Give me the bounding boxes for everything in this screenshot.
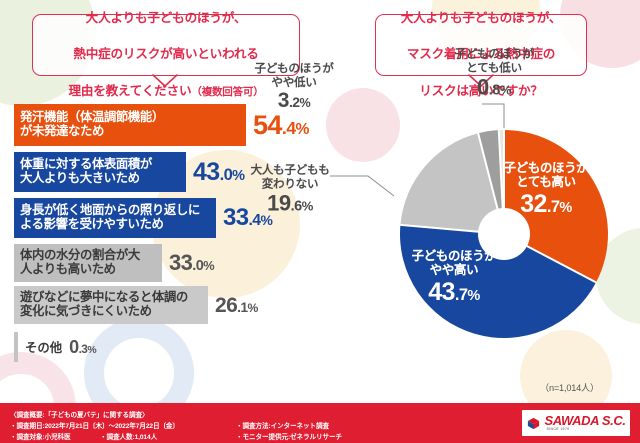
bar-value-int: 33 <box>223 204 249 231</box>
slice-value-int: 43 <box>428 278 455 306</box>
footer-survey-heading: 〈調査概要:「子どもの夏バテ」に関する調査〉 <box>10 409 148 419</box>
bar-value-label: 54.4% <box>253 112 309 139</box>
slice-value-int: 32 <box>520 190 547 218</box>
slice-value-dec: .6 <box>291 199 302 215</box>
bar-value-pct: % <box>203 258 214 273</box>
bar-value-pct: % <box>87 345 96 356</box>
sawada-sc-logo[interactable]: SAWADA S.C. SINCE 1970 <box>522 410 630 436</box>
slice-label-name: 大人も子どもも変わりない <box>250 163 329 190</box>
slice-label-value: 3.2% <box>254 89 333 114</box>
infographic-canvas: 大人よりも子どものほうが、 熱中症のリスクが高いといわれる 理由を教えてください… <box>0 0 640 443</box>
bar-fill: 体内の水分の割合が大 人よりも高いため <box>14 244 162 282</box>
left-bubble-tail-icon <box>152 74 178 88</box>
slice-value-dec: .8 <box>489 83 500 99</box>
slice-value-int: 19 <box>267 191 290 216</box>
slice-label-name: 子どものほうがやや高い <box>412 249 497 278</box>
bar-row-2: 体重に対する体表面積が 大人よりも大きいため43.0% <box>14 152 244 192</box>
bar-fill: 体重に対する体表面積が 大人よりも大きいため <box>14 152 186 192</box>
slice-value-dec: .7 <box>547 198 560 216</box>
leader-line <box>482 104 504 128</box>
bar-fill: 遊びなどに夢中になると体調の 変化に気づきにくいため <box>14 286 208 324</box>
bar-row-4: 体内の水分の割合が大 人よりも高いため33.0% <box>14 244 214 282</box>
slice-name: 子どものほうがとても高い <box>504 161 589 189</box>
slice-label-name: 子どものほうがやや低い <box>254 62 333 89</box>
left-q-line2: 熱中症のリスクが高いといわれる <box>73 47 258 61</box>
slice-somewhat-high-label: 子どものほうがやや高い43.7% <box>412 249 497 307</box>
bar-category-label: 身長が低く地面からの照り返しに よる影響を受けやすいため <box>20 204 200 232</box>
bar-value-label: 33.0% <box>169 252 214 274</box>
bar-value-int: 26 <box>215 294 237 317</box>
bar-row-5: 遊びなどに夢中になると体調の 変化に気づきにくいため26.1% <box>14 286 258 324</box>
slice-value-pct: % <box>300 96 311 110</box>
bar-value-dec: .0 <box>192 258 203 274</box>
slice-value-dec: .2 <box>289 94 300 110</box>
bar-value-dec: .1 <box>237 299 247 315</box>
slice-very-high-label: 子どものほうがとても高い32.7% <box>504 161 589 219</box>
other-row: その他0.3% <box>14 332 96 362</box>
mask-risk-pie-chart <box>398 128 610 340</box>
slice-name: 大人も子どもも変わりない <box>250 163 329 190</box>
bar-row-6: その他0.3% <box>14 332 96 362</box>
bar-category-label: 発汗機能（体温調節機能） が未発達なため <box>20 111 164 139</box>
slice-no-difference-label: 大人も子どもも変わりない19.6% <box>250 163 329 216</box>
bar-row-3: 身長が低く地面からの照り返しに よる影響を受けやすいため33.4% <box>14 198 272 238</box>
pink-circle-pie-left <box>326 88 400 162</box>
footer-survey-count: ・調査人数:1,014人 <box>100 431 157 441</box>
footer-survey-target: ・調査対象:小児科医 <box>10 431 71 441</box>
bar-value-int: 33 <box>169 250 192 275</box>
bar-category-label: その他 <box>25 338 62 356</box>
slice-label-value: 19.6% <box>250 191 329 217</box>
bar-category-label: 体内の水分の割合が大 人よりも高いため <box>20 249 140 277</box>
bar-fill <box>14 332 18 362</box>
logo-text-block: SAWADA S.C. SINCE 1970 <box>544 414 625 432</box>
slice-name: 子どものほうがやや低い <box>254 62 333 89</box>
slice-value-pct: % <box>500 83 511 98</box>
bar-value-label: 26.1% <box>215 295 258 316</box>
leader-line <box>330 176 394 196</box>
slice-name: 子どものほうがとても低い <box>454 47 533 74</box>
slice-label-value: 32.7% <box>504 190 589 219</box>
left-q-line1: 大人よりも子どものほうが、 <box>86 11 247 25</box>
bar-value-pct: % <box>296 121 309 138</box>
survey-footer: 〈調査概要:「子どもの夏バテ」に関する調査〉 ・調査期日:2022年7月21日〔… <box>0 403 640 443</box>
bar-fill: 発汗機能（体温調節機能） が未発達なため <box>14 104 246 146</box>
sawada-cube-icon <box>526 416 541 431</box>
slice-label-name: 子どものほうがとても高い <box>504 161 589 190</box>
slice-value-int: 0 <box>477 75 489 100</box>
slice-value-pct: % <box>302 199 313 214</box>
slice-value-dec: .7 <box>455 286 468 304</box>
slice-label-value: 43.7% <box>412 278 497 307</box>
bar-value-label: 43.0% <box>193 160 244 185</box>
bar-value-int: 43 <box>193 158 220 186</box>
pie-svg <box>398 128 610 340</box>
bar-value-label: 0.3% <box>69 338 96 356</box>
footer-survey-monitor: ・モニター提供元:ゼネラルリサーチ <box>236 431 342 441</box>
bar-value-dec: .0 <box>220 166 233 184</box>
slice-name: 子どものほうがやや高い <box>412 249 497 277</box>
slice-very-low-label: 子どものほうがとても低い0.8% <box>454 47 533 100</box>
logo-company-name: SAWADA S.C. <box>544 414 625 427</box>
slice-label-name: 子どものほうがとても低い <box>454 47 533 74</box>
slice-value-pct: % <box>467 288 479 304</box>
slice-somewhat-low-label: 子どものほうがやや低い3.2% <box>254 62 333 114</box>
bar-value-pct: % <box>232 168 244 184</box>
slice-value-pct: % <box>559 200 571 216</box>
left-q-note: （複数回答可） <box>191 86 263 98</box>
slice-value-int: 3 <box>278 89 289 112</box>
footer-survey-method: ・調査方法:インターネット調査 <box>236 420 329 430</box>
bar-category-label: 遊びなどに夢中になると体調の 変化に気づきにくいため <box>20 291 188 319</box>
bar-value-dec: .3 <box>79 342 88 356</box>
pie-sample-note: （n=1,014人） <box>540 380 599 394</box>
footer-survey-period: ・調査期日:2022年7月21日〔木〕〜2022年7月22日〔金〕 <box>10 420 179 430</box>
right-q-line1: 大人よりも子どものほうが、 <box>401 11 562 25</box>
slice-label-value: 0.8% <box>454 75 533 101</box>
bar-value-pct: % <box>248 301 258 315</box>
bar-fill: 身長が低く地面からの照り返しに よる影響を受けやすいため <box>14 198 216 238</box>
logo-since: SINCE 1970 <box>546 428 569 432</box>
reasons-bar-chart: 発汗機能（体温調節機能） が未発達なため54.4%体重に対する体表面積が 大人よ… <box>14 104 332 390</box>
bar-value-int: 0 <box>69 337 78 357</box>
bar-category-label: 体重に対する体表面積が 大人よりも大きいため <box>20 158 152 186</box>
bar-value-dec: .4 <box>282 118 296 138</box>
